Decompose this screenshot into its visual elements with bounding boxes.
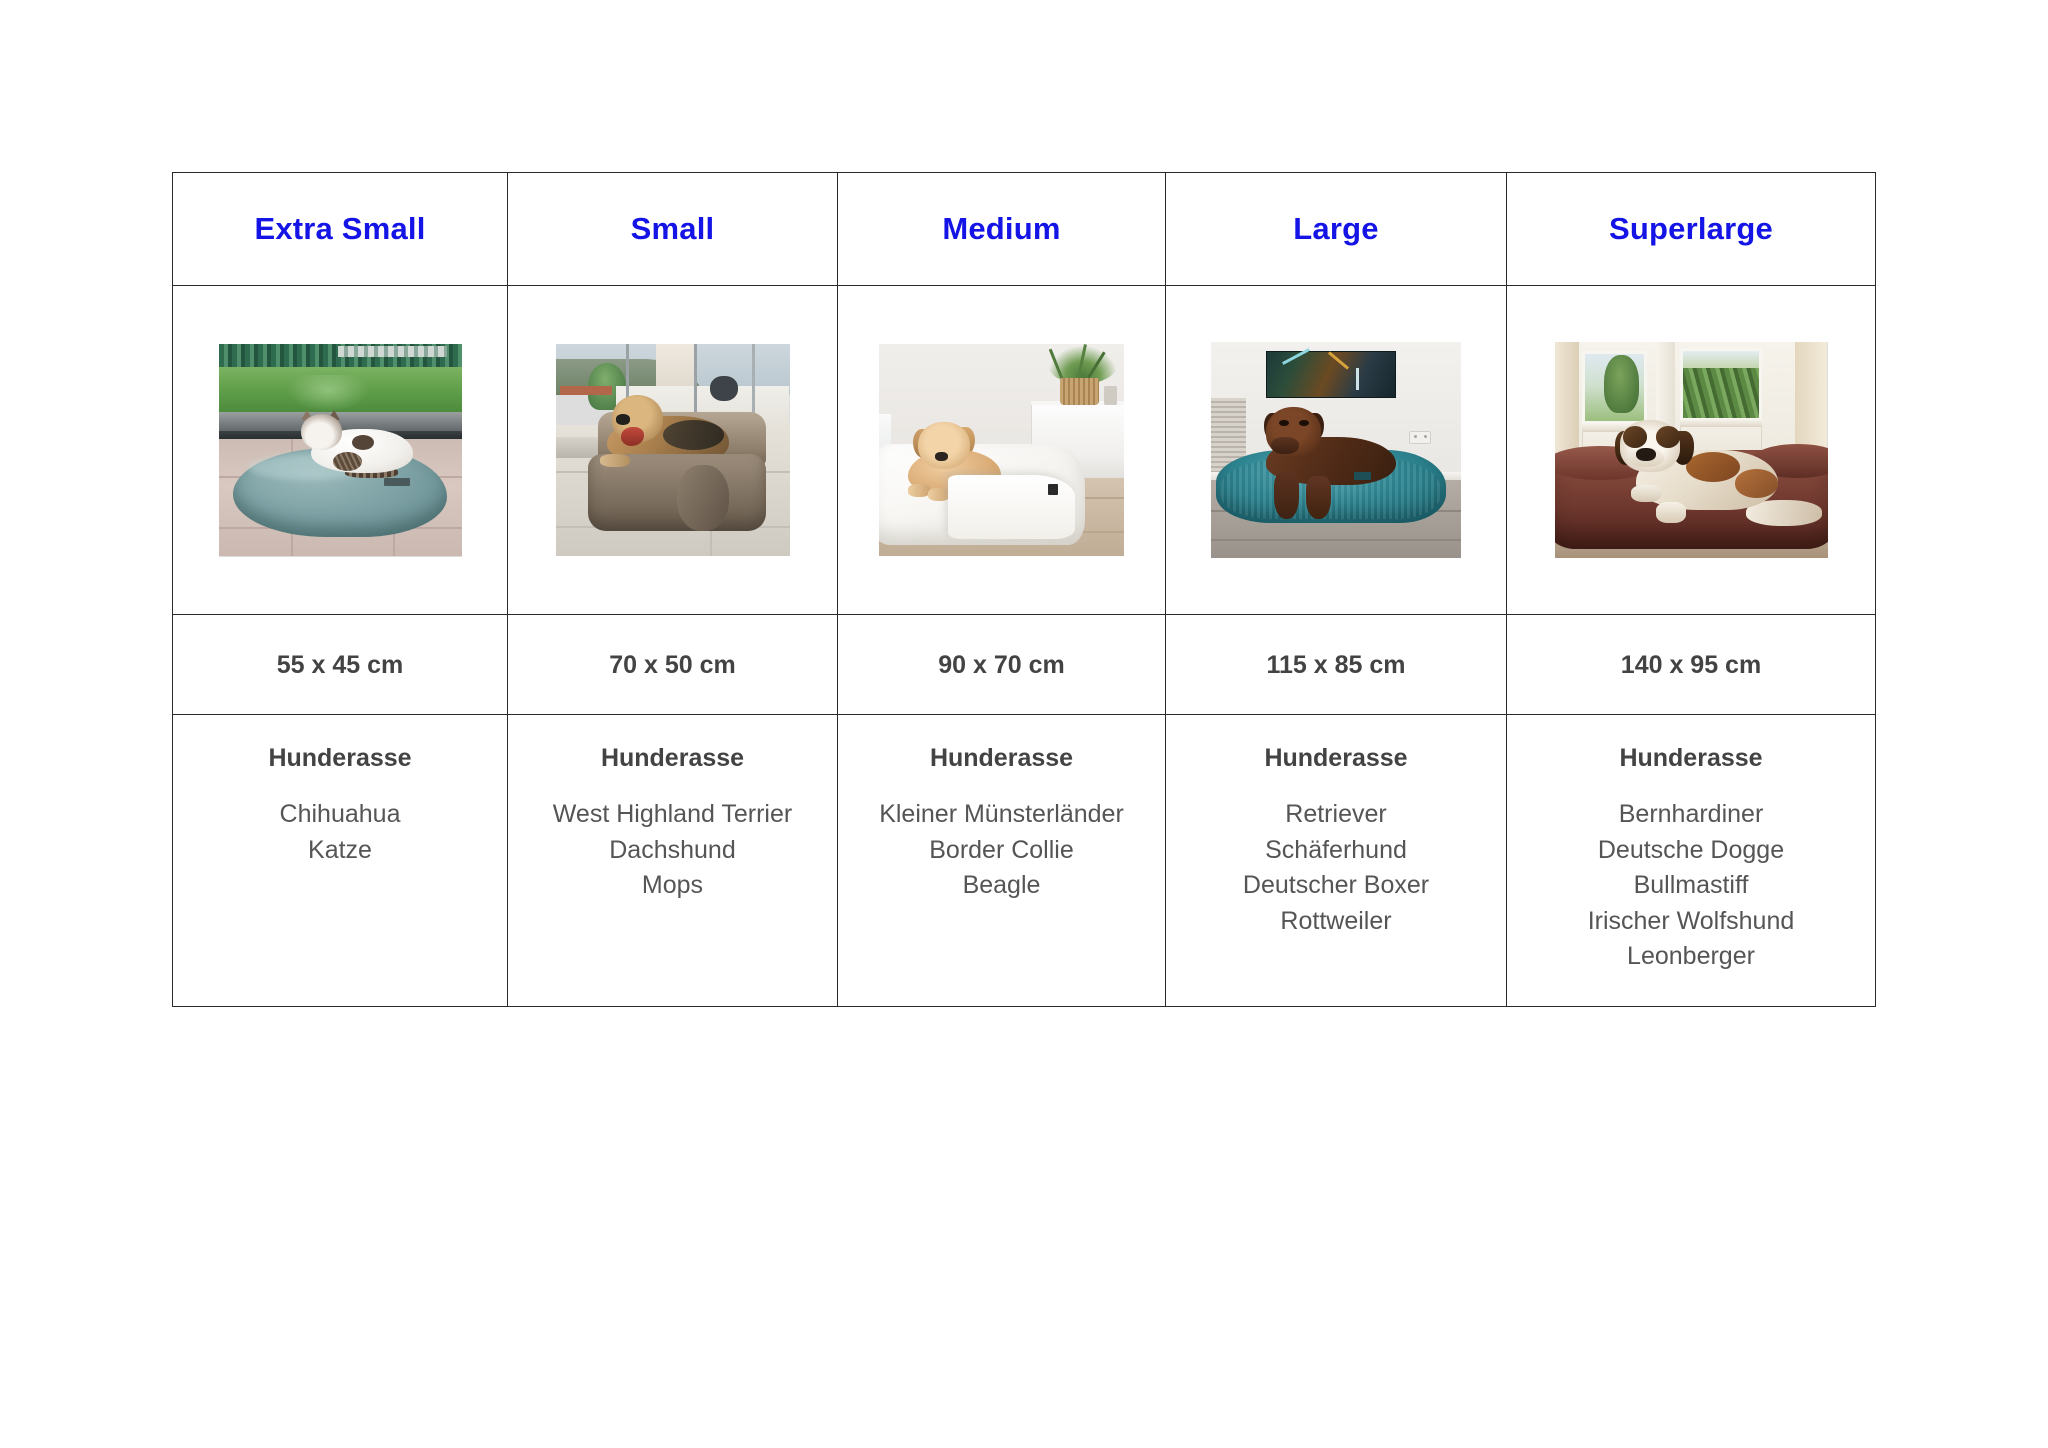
bed-label-tag — [384, 478, 411, 487]
list-item: Chihuahua — [181, 797, 499, 833]
person-figure — [710, 376, 738, 401]
photo-wrap-extra-small — [173, 286, 507, 614]
image-cell-large — [1166, 286, 1507, 615]
photo-terrier-on-brown-bed — [556, 344, 790, 556]
bed-label-tag — [1354, 472, 1372, 481]
list-item: West Highland Terrier — [516, 797, 829, 833]
dimensions-extra-small: 55 x 45 cm — [179, 650, 501, 680]
roof — [560, 386, 611, 394]
wall-artwork — [1266, 351, 1396, 399]
cat-spot — [352, 435, 374, 450]
breed-heading-superlarge: Hunderasse — [1515, 743, 1867, 773]
breeds-cell-large: Hunderasse Retriever Schäferhund Deutsch… — [1166, 715, 1507, 1007]
list-item: Mops — [516, 868, 829, 904]
header-cell-extra-small: Extra Small — [173, 173, 508, 286]
breed-heading-medium: Hunderasse — [846, 743, 1157, 773]
bed-label-tag — [1048, 484, 1058, 495]
list-item: Katze — [181, 833, 499, 869]
lawn — [219, 367, 462, 414]
image-cell-superlarge — [1507, 286, 1876, 615]
photo-saint-bernard-on-brown-bed — [1555, 342, 1828, 558]
dog-paw — [1656, 502, 1686, 524]
header-cell-large: Large — [1166, 173, 1507, 286]
size-name-large: Large — [1172, 212, 1500, 246]
table-header-row: Extra Small Small Medium Large Superlarg… — [173, 173, 1876, 286]
dimensions-superlarge: 140 x 95 cm — [1513, 650, 1869, 680]
breed-list-medium: Kleiner Münsterländer Border Collie Beag… — [846, 797, 1157, 904]
dimensions-cell-extra-small: 55 x 45 cm — [173, 615, 508, 715]
header-cell-small: Small — [508, 173, 838, 286]
image-cell-small — [508, 286, 838, 615]
candle — [1104, 386, 1116, 405]
bed-bolster — [677, 465, 728, 531]
photo-labrador-on-teal-bed — [1211, 342, 1461, 558]
dog-paw — [1631, 485, 1661, 502]
breeds-cell-superlarge: Hunderasse Bernhardiner Deutsche Dogge B… — [1507, 715, 1876, 1007]
dog-saddle-marking — [663, 420, 724, 450]
list-item: Rottweiler — [1174, 904, 1498, 940]
header-cell-superlarge: Superlarge — [1507, 173, 1876, 286]
artwork-detail — [1356, 368, 1359, 390]
breed-list-superlarge: Bernhardiner Deutsche Dogge Bullmastiff … — [1515, 797, 1867, 975]
dog-snout — [1271, 437, 1299, 454]
breed-list-large: Retriever Schäferhund Deutscher Boxer Ro… — [1174, 797, 1498, 939]
list-item: Border Collie — [846, 833, 1157, 869]
window-sill — [1680, 418, 1762, 427]
breed-heading-small: Hunderasse — [516, 743, 829, 773]
dog-eye-mask — [1656, 426, 1681, 448]
wall-socket — [1409, 431, 1432, 444]
woven-basket — [1060, 378, 1099, 406]
socket-hole — [1414, 435, 1417, 438]
photo-cockapoo-on-white-bed — [879, 344, 1124, 556]
garden-tree — [1604, 355, 1639, 413]
dog-front-leg — [1306, 476, 1331, 519]
photo-wrap-small — [508, 286, 837, 614]
list-item: Deutscher Boxer — [1174, 868, 1498, 904]
dog-nose — [616, 414, 630, 425]
table-dimensions-row: 55 x 45 cm 70 x 50 cm 90 x 70 cm 115 x 8… — [173, 615, 1876, 715]
photo-wrap-large — [1166, 286, 1506, 614]
breeds-cell-medium: Hunderasse Kleiner Münsterländer Border … — [838, 715, 1166, 1007]
list-item: Kleiner Münsterländer — [846, 797, 1157, 833]
dog-nose — [1636, 448, 1655, 461]
photo-cat-on-light-blue-bed — [219, 344, 462, 557]
list-item: Bullmastiff — [1515, 868, 1867, 904]
photo-wrap-medium — [838, 286, 1165, 614]
dog-eye — [1279, 420, 1289, 426]
dog-head — [918, 422, 969, 469]
document-page: Extra Small Small Medium Large Superlarg… — [0, 0, 2048, 1448]
breeds-cell-extra-small: Hunderasse Chihuahua Katze — [173, 715, 508, 1007]
cat-head — [301, 414, 342, 450]
dog-front-leg — [1274, 472, 1299, 520]
size-name-superlarge: Superlarge — [1513, 212, 1869, 246]
floorboard-line — [1211, 539, 1461, 541]
dimensions-cell-medium: 90 x 70 cm — [838, 615, 1166, 715]
dimensions-medium: 90 x 70 cm — [844, 650, 1159, 680]
socket-hole — [1424, 435, 1427, 438]
dimensions-cell-superlarge: 140 x 95 cm — [1507, 615, 1876, 715]
dog-bed-size-table: Extra Small Small Medium Large Superlarg… — [172, 172, 1876, 1007]
list-item: Irischer Wolfshund — [1515, 904, 1867, 940]
list-item: Retriever — [1174, 797, 1498, 833]
list-item: Dachshund — [516, 833, 829, 869]
breeds-cell-small: Hunderasse West Highland Terrier Dachshu… — [508, 715, 838, 1007]
list-item: Schäferhund — [1174, 833, 1498, 869]
list-item: Deutsche Dogge — [1515, 833, 1867, 869]
breed-heading-extra-small: Hunderasse — [181, 743, 499, 773]
size-name-small: Small — [514, 212, 831, 246]
image-cell-medium — [838, 286, 1166, 615]
table-image-row — [173, 286, 1876, 615]
dog-paw — [600, 454, 630, 467]
dimensions-cell-large: 115 x 85 cm — [1166, 615, 1507, 715]
size-name-medium: Medium — [844, 212, 1159, 246]
dog-coat-patch — [1735, 469, 1779, 497]
header-cell-medium: Medium — [838, 173, 1166, 286]
dog-eye — [1299, 420, 1309, 426]
photo-wrap-superlarge — [1507, 286, 1875, 614]
dog-paw — [928, 488, 950, 501]
dog-eye-mask — [1623, 426, 1648, 448]
image-cell-extra-small — [173, 286, 508, 615]
list-item: Bernhardiner — [1515, 797, 1867, 833]
dimensions-cell-small: 70 x 50 cm — [508, 615, 838, 715]
fence — [219, 344, 462, 370]
breed-list-extra-small: Chihuahua Katze — [181, 797, 499, 868]
dimensions-small: 70 x 50 cm — [514, 650, 831, 680]
table-breeds-row: Hunderasse Chihuahua Katze Hunderasse We… — [173, 715, 1876, 1007]
breed-heading-large: Hunderasse — [1174, 743, 1498, 773]
dimensions-large: 115 x 85 cm — [1172, 650, 1500, 680]
garden-hedge — [1683, 368, 1759, 418]
list-item: Beagle — [846, 868, 1157, 904]
list-item: Leonberger — [1515, 939, 1867, 975]
breed-list-small: West Highland Terrier Dachshund Mops — [516, 797, 829, 904]
dog-nose — [935, 452, 947, 460]
size-name-extra-small: Extra Small — [179, 212, 501, 246]
